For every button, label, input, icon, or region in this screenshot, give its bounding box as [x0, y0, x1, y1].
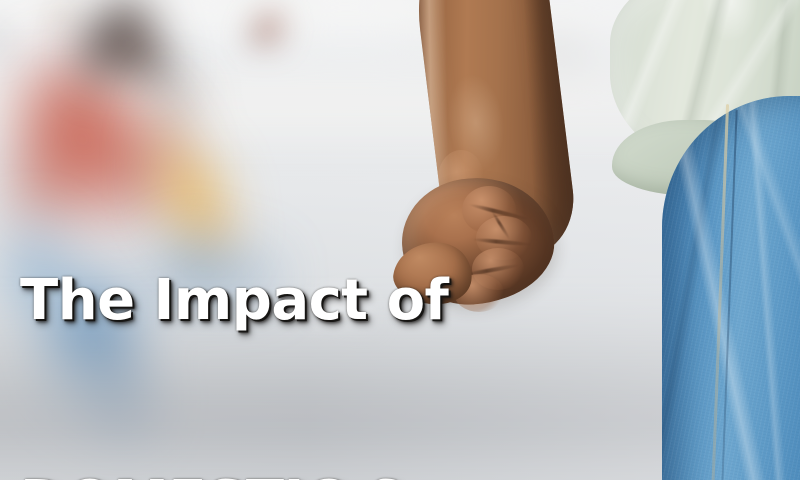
mans-jeans — [662, 96, 800, 480]
domestic-violence-banner: The Impact of DOMESTIC & Family Violence — [0, 0, 800, 480]
mans-shirt — [610, 0, 800, 170]
denim-texture — [662, 96, 800, 480]
title-line-1: The Impact of — [20, 267, 506, 334]
banner-title: The Impact of DOMESTIC & Family Violence — [20, 133, 506, 480]
title-line-2: DOMESTIC & — [20, 468, 506, 480]
jeans-seam — [710, 104, 729, 480]
shirt-hem — [612, 120, 762, 196]
jeans-seam-shadow — [720, 110, 737, 480]
shirt-fold-highlights — [610, 0, 800, 170]
